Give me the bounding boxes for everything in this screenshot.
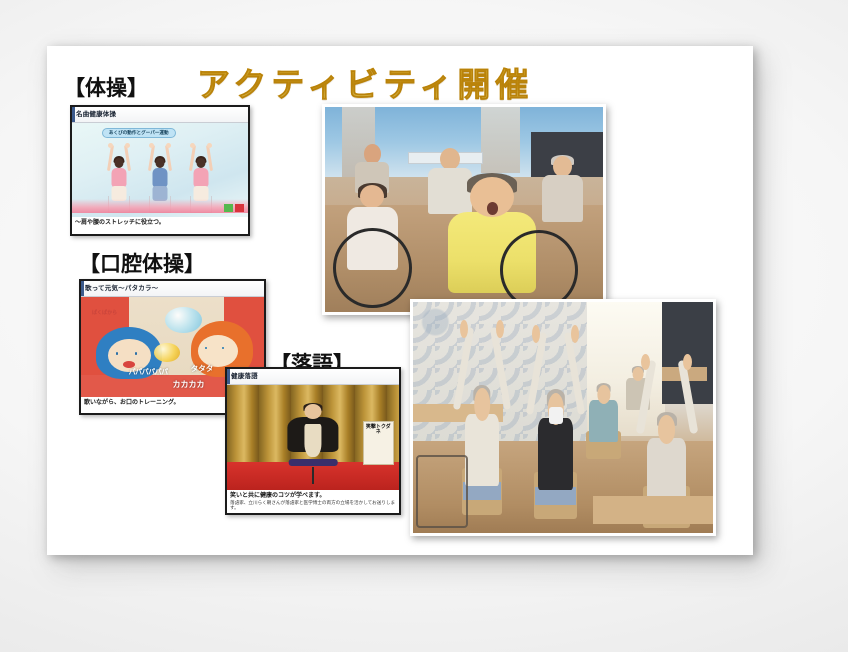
- sound-text-ta: タタタ: [191, 363, 214, 374]
- overlay-caption-taiso: あくびの動作とグーパー運動: [102, 128, 176, 138]
- card-thumbnail-rakugo: 笑撃トクダネ: [227, 385, 399, 490]
- channel-logo-icon: [224, 204, 244, 212]
- hand-left: [190, 143, 195, 148]
- head: [115, 158, 124, 168]
- arm-right: [124, 145, 131, 171]
- slide-page: アクティビティ開催 【体操】 【口腔体操】 【落語】 名曲健康体操 あくびの動作…: [47, 46, 753, 555]
- cushion: [289, 459, 338, 466]
- floor-gradient: [72, 199, 248, 213]
- wheelchair-wheel-left: [333, 228, 411, 308]
- torso: [112, 168, 127, 187]
- head: [156, 158, 165, 168]
- video-card-rakugo[interactable]: 健康落語 笑撃トクダネ 笑いと共に健康のコツが学べます。 落語家、立川らく朝さん…: [225, 367, 401, 515]
- head: [197, 158, 206, 168]
- torso: [194, 168, 209, 187]
- torso: [153, 168, 168, 187]
- hand-right: [207, 143, 212, 148]
- sound-text-ka: カカカカ: [173, 379, 205, 390]
- eye-right: [222, 347, 224, 350]
- card-header-koku: 歌って元気〜パタカラ〜: [81, 281, 264, 297]
- photo-stretch-group: [410, 299, 716, 536]
- arm-right: [165, 145, 172, 171]
- section-label-koku: 【口腔体操】: [79, 248, 205, 278]
- hand-left: [108, 143, 113, 148]
- person-background-right: [539, 156, 586, 222]
- person-stretching-center: [524, 339, 587, 519]
- bubble-small-icon: [154, 343, 180, 362]
- photo-wheelchair-room: [322, 104, 606, 315]
- card-title-taiso: 名曲健康体操: [76, 111, 116, 118]
- eye-right: [135, 352, 137, 355]
- card-header-rakugo: 健康落語: [227, 369, 399, 385]
- card-title-rakugo: 健康落語: [231, 373, 258, 380]
- wheelchair-wheel-right: [500, 230, 578, 310]
- kimono-front: [304, 424, 322, 457]
- card-caption-rakugo: 笑いと共に健康のコツが学べます。 落語家、立川らく朝さんが落語家と医学博士の両方…: [227, 490, 399, 512]
- curtain-center: [481, 107, 520, 173]
- scroll-text: 笑撃トクダネ: [364, 425, 393, 436]
- bubble-large-icon: [165, 307, 202, 333]
- video-card-taiso[interactable]: 名曲健康体操 あくびの動作とグーパー運動: [70, 105, 250, 236]
- corner-text-koku: ぱくぱから: [92, 309, 117, 316]
- rakugo-performer: [287, 404, 339, 463]
- table-right: [593, 496, 713, 524]
- caption-sub-rakugo: 落語家、立川らく朝さんが落語家と医学博士の両方の立場を活かしてお送りします。: [230, 501, 396, 513]
- eye-left: [116, 352, 118, 355]
- card-caption-taiso: 〜肩や腰のストレッチに役立つ。: [72, 217, 248, 227]
- eye-left: [205, 347, 207, 350]
- hand-left: [149, 143, 154, 148]
- face-mask-icon: [549, 407, 563, 423]
- stage-scroll-sign: 笑撃トクダネ: [363, 421, 394, 465]
- card-header-taiso: 名曲健康体操: [72, 107, 248, 123]
- caption-main-taiso: 〜肩や腰のストレッチに役立つ。: [75, 219, 245, 227]
- hand-right: [125, 143, 130, 148]
- arm-right: [206, 145, 213, 171]
- sound-text-pa: パパパパパパ: [129, 367, 168, 377]
- caption-main-rakugo: 笑いと共に健康のコツが学べます。: [230, 492, 396, 500]
- hand-right: [166, 143, 171, 148]
- section-label-taiso: 【体操】: [64, 72, 148, 102]
- wheelchair: [416, 455, 468, 528]
- microphone-icon: [312, 467, 314, 484]
- card-title-koku: 歌って元気〜パタカラ〜: [85, 285, 158, 292]
- head: [304, 404, 322, 419]
- page-title: アクティビティ開催: [197, 58, 533, 106]
- card-thumbnail-taiso: あくびの動作とグーパー運動: [72, 123, 248, 217]
